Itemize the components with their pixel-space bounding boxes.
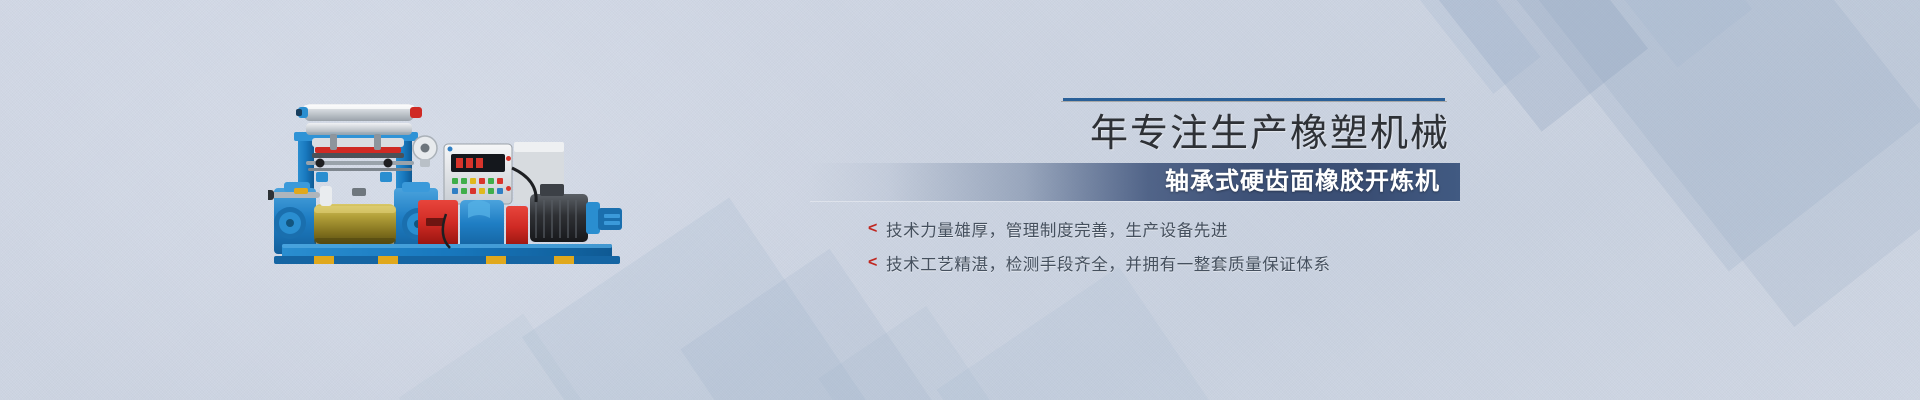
list-item: < 技术力量雄厚，管理制度完善，生产设备先进: [868, 212, 1488, 246]
product-image-rubber-mixing-mill: [268, 96, 628, 266]
feature-list: < 技术力量雄厚，管理制度完善，生产设备先进 < 技术工艺精湛，检测手段齐全，并…: [868, 212, 1488, 280]
banner-copy: 年专注生产橡塑机械 轴承式硬齿面橡胶开炼机 < 技术力量雄厚，管理制度完善，生产…: [820, 90, 1920, 320]
banner-headline: 年专注生产橡塑机械: [820, 108, 1450, 160]
feature-text: 技术工艺精湛，检测手段齐全，并拥有一整套质量保证体系: [886, 251, 1331, 275]
headline-divider-rule: [1063, 98, 1445, 101]
feature-text: 技术力量雄厚，管理制度完善，生产设备先进: [886, 217, 1228, 241]
chevron-left-icon: <: [868, 254, 886, 272]
subtitle-bar: 轴承式硬齿面橡胶开炼机: [810, 163, 1460, 201]
watermark-shape-top-right-5: [1379, 0, 1540, 94]
list-item: < 技术工艺精湛，检测手段齐全，并拥有一整套质量保证体系: [868, 246, 1488, 280]
banner-subtitle: 轴承式硬齿面橡胶开炼机: [1165, 163, 1440, 201]
chevron-left-icon: <: [868, 220, 886, 238]
watermark-shape-bottom-5: [399, 314, 691, 400]
promo-banner: 年专注生产橡塑机械 轴承式硬齿面橡胶开炼机 < 技术力量雄厚，管理制度完善，生产…: [0, 0, 1920, 400]
watermark-shape-top-right-4: [1493, 0, 1753, 67]
